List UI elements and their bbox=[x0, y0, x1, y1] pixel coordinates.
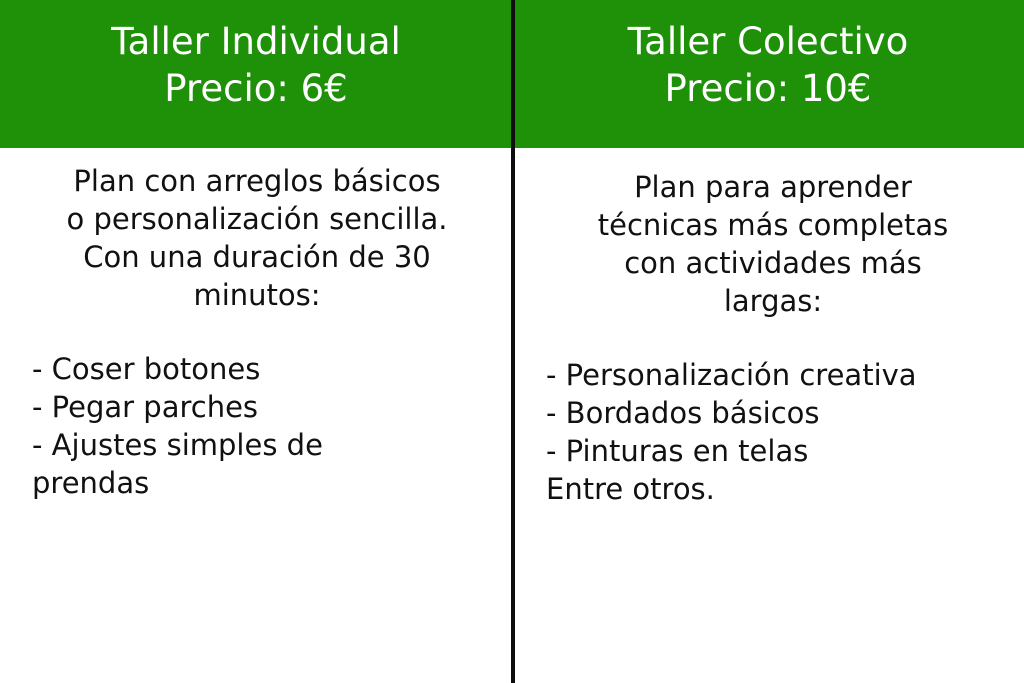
column-divider bbox=[511, 0, 515, 683]
spacer-right bbox=[546, 320, 1000, 356]
header-title-taller-individual: Taller Individual bbox=[111, 18, 401, 65]
header-cell-taller-colectivo: Taller Colectivo Precio: 10€ bbox=[512, 0, 1024, 148]
header-price-taller-individual: Precio: 6€ bbox=[164, 65, 347, 112]
service-list-taller-colectivo: - Personalización creativa - Bordados bá… bbox=[546, 356, 1000, 508]
intro-text-taller-colectivo: Plan para aprender técnicas más completa… bbox=[546, 168, 1000, 320]
list-item: prendas bbox=[32, 464, 482, 502]
body-cell-taller-colectivo: Plan para aprender técnicas más completa… bbox=[512, 148, 1024, 683]
header-title-taller-colectivo: Taller Colectivo bbox=[628, 18, 909, 65]
intro-text-taller-individual: Plan con arreglos básicos o personalizac… bbox=[32, 162, 482, 314]
list-item: - Coser botones bbox=[32, 350, 482, 388]
list-item: - Ajustes simples de bbox=[32, 426, 482, 464]
list-item: - Bordados básicos bbox=[546, 394, 1000, 432]
body-cell-taller-individual: Plan con arreglos básicos o personalizac… bbox=[0, 148, 512, 683]
list-item: - Pinturas en telas bbox=[546, 432, 1000, 470]
list-item: - Personalización creativa bbox=[546, 356, 1000, 394]
service-list-taller-individual: - Coser botones - Pegar parches - Ajuste… bbox=[32, 350, 482, 502]
header-cell-taller-individual: Taller Individual Precio: 6€ bbox=[0, 0, 512, 148]
pricing-comparison-slide: Taller Individual Precio: 6€ Taller Cole… bbox=[0, 0, 1024, 683]
spacer-left bbox=[32, 314, 482, 350]
list-item: - Pegar parches bbox=[32, 388, 482, 426]
list-item: Entre otros. bbox=[546, 470, 1000, 508]
header-price-taller-colectivo: Precio: 10€ bbox=[665, 65, 872, 112]
